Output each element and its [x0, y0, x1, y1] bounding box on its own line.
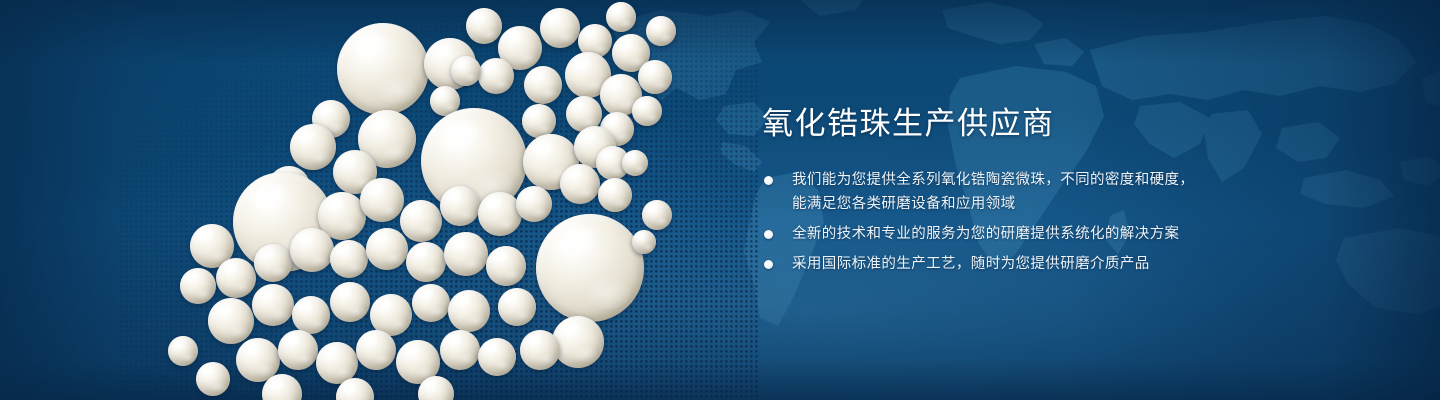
list-item-line: 能满足您各类研磨设备和应用领域: [792, 192, 1322, 216]
page-title: 氧化锆珠生产供应商: [762, 104, 1322, 144]
list-item-line: 采用国际标准的生产工艺，随时为您提供研磨介质产品: [792, 252, 1322, 276]
list-item: 我们能为您提供全系列氧化锆陶瓷微珠，不同的密度和硬度， 能满足您各类研磨设备和应…: [762, 168, 1322, 216]
bullet-dot-icon: [764, 230, 773, 239]
zirconia-beads-image: [0, 0, 760, 400]
feature-list: 我们能为您提供全系列氧化锆陶瓷微珠，不同的密度和硬度， 能满足您各类研磨设备和应…: [762, 168, 1322, 276]
bullet-dot-icon: [764, 260, 773, 269]
list-item: 全新的技术和专业的服务为您的研磨提供系统化的解决方案: [762, 222, 1322, 246]
list-item: 采用国际标准的生产工艺，随时为您提供研磨介质产品: [762, 252, 1322, 276]
banner-copy: 氧化锆珠生产供应商 我们能为您提供全系列氧化锆陶瓷微珠，不同的密度和硬度， 能满…: [762, 104, 1322, 276]
list-item-line: 全新的技术和专业的服务为您的研磨提供系统化的解决方案: [792, 222, 1322, 246]
hero-banner: 氧化锆珠生产供应商 我们能为您提供全系列氧化锆陶瓷微珠，不同的密度和硬度， 能满…: [0, 0, 1440, 400]
list-item-line: 我们能为您提供全系列氧化锆陶瓷微珠，不同的密度和硬度，: [792, 168, 1322, 192]
bullet-dot-icon: [764, 176, 773, 185]
